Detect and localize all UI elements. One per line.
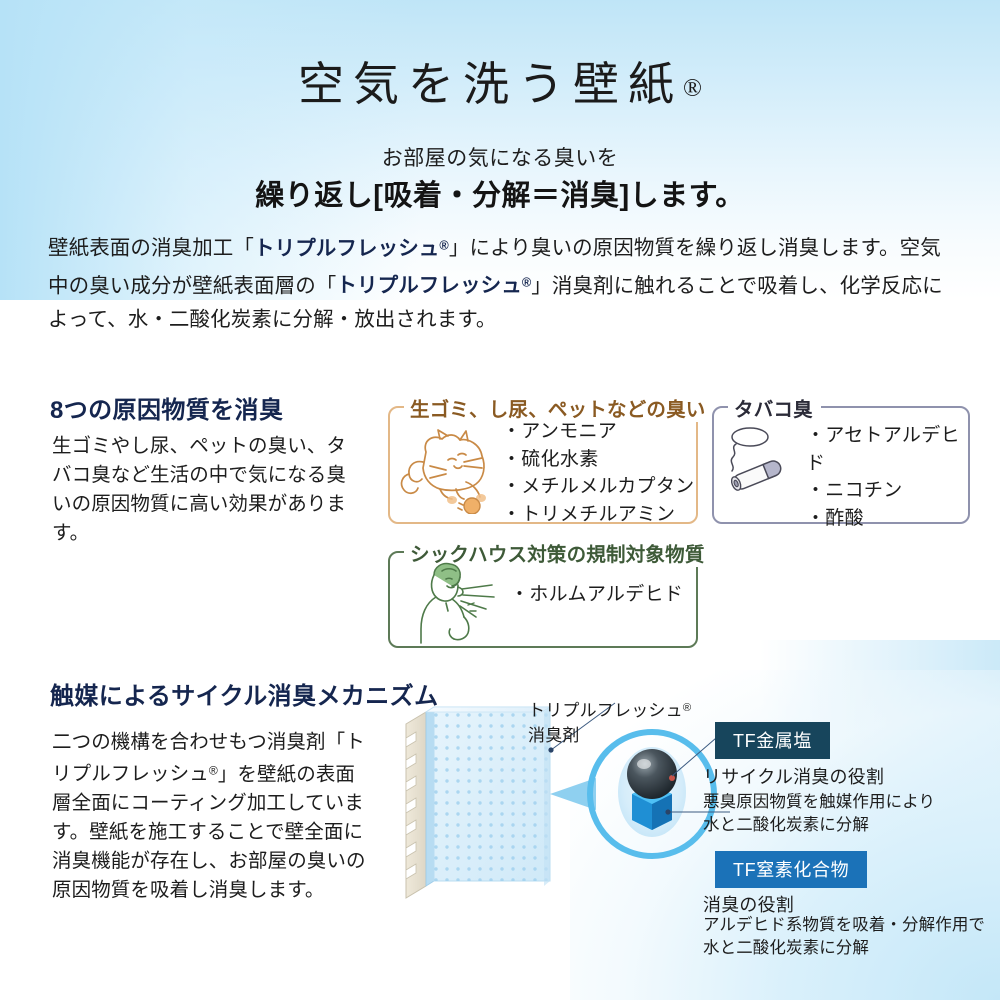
role-description-nitrogen-compound: アルデヒド系物質を吸着・分解作用で 水と二酸化炭素に分解 (703, 914, 985, 960)
badge-tf-metal-salt: TF金属塩 (715, 722, 830, 759)
cigarette-icon (722, 426, 806, 498)
role-description-line: 水と二酸化炭素に分解 (703, 814, 935, 837)
coating-label-line-1: トリプルフレッシュ (528, 701, 683, 720)
list-item: ・メチルメルカプタン (502, 473, 694, 501)
brand-name-2: トリプルフレッシュ® (336, 274, 531, 297)
substance-box-kitchen-list: ・アンモニア ・硫化水素 ・メチルメルカプタン ・トリメチルアミン (502, 418, 694, 528)
coughing-person-icon (416, 559, 512, 645)
subtitle-line-2: 繰り返し[吸着・分解＝消臭]します。 (0, 172, 1000, 214)
registered-mark-icon: ® (683, 702, 691, 714)
substance-box-tobacco: タバコ臭 ・アセトアルデヒド ・ニコチン ・酢酸 (712, 406, 970, 524)
section-heading-substances: 8つの原因物質を消臭 (50, 390, 283, 425)
role-description-line: アルデヒド系物質を吸着・分解作用で (703, 914, 985, 937)
intro-paragraph: 壁紙表面の消臭加工「トリプルフレッシュ®」により臭いの原因物質を繰り返し消臭しま… (48, 228, 958, 337)
list-item: ・酢酸 (806, 505, 968, 533)
brand-name-2-text: トリプルフレッシュ (336, 274, 521, 297)
page-title: 空気を洗う壁紙® (0, 48, 1000, 114)
section-body-mechanism: 二つの機構を合わせもつ消臭剤「トリプルフレッシュ®」を壁紙の表面層全面にコーティ… (52, 728, 372, 905)
substance-box-sick-house-list: ・ホルムアルデヒド (510, 581, 683, 609)
list-item: ・アンモニア (502, 418, 694, 446)
list-item: ・ホルムアルデヒド (510, 581, 683, 609)
substance-box-kitchen: 生ゴミ、し尿、ペットなどの臭い (388, 406, 698, 524)
brand-name-1-text: トリプルフレッシュ (254, 237, 439, 260)
list-item: ・アセトアルデヒド (806, 422, 968, 477)
registered-mark-icon: ® (522, 275, 531, 290)
subtitle-line-1: お部屋の気になる臭いを (0, 142, 1000, 172)
coating-label: トリプルフレッシュ® 消臭剤 (528, 696, 691, 748)
substance-box-sick-house: シックハウス対策の規制対象物質 (388, 551, 698, 648)
registered-mark-icon: ® (439, 237, 448, 252)
section-heading-mechanism: 触媒によるサイクル消臭メカニズム (50, 676, 438, 711)
intro-text-part-1: 壁紙表面の消臭加工「 (48, 237, 254, 260)
substance-box-tobacco-list: ・アセトアルデヒド ・ニコチン ・酢酸 (806, 422, 968, 532)
role-description-line: 水と二酸化炭素に分解 (703, 937, 985, 960)
page-title-text: 空気を洗う壁紙 (298, 59, 683, 110)
section-body-substances: 生ゴミやし尿、ペットの臭い、タバコ臭など生活の中で気になる臭いの原因物質に高い効… (52, 432, 352, 548)
coating-label-line-2: 消臭剤 (528, 726, 580, 745)
brand-name-1: トリプルフレッシュ® (254, 237, 449, 260)
role-description-line: 悪臭原因物質を触媒作用により (703, 791, 935, 814)
list-item: ・硫化水素 (502, 446, 694, 474)
infographic-page: 空気を洗う壁紙® お部屋の気になる臭いを 繰り返し[吸着・分解＝消臭]します。 … (0, 0, 1000, 1000)
list-item: ・トリメチルアミン (502, 501, 694, 529)
registered-mark-icon: ® (209, 764, 218, 778)
mechanism-text-part-1: 二つの機構を合わせもつ消臭剤「 (52, 731, 345, 753)
list-item: ・ニコチン (806, 477, 968, 505)
registered-mark-icon: ® (683, 75, 702, 102)
tf-metal-salt-sphere-icon (627, 749, 677, 799)
role-title-metal-salt: リサイクル消臭の役割 (703, 763, 884, 789)
badge-tf-nitrogen-compound: TF窒素化合物 (715, 851, 867, 888)
role-description-metal-salt: 悪臭原因物質を触媒作用により 水と二酸化炭素に分解 (703, 791, 935, 837)
substance-box-tobacco-label: タバコ臭 (728, 393, 821, 422)
cat-icon (396, 422, 500, 514)
